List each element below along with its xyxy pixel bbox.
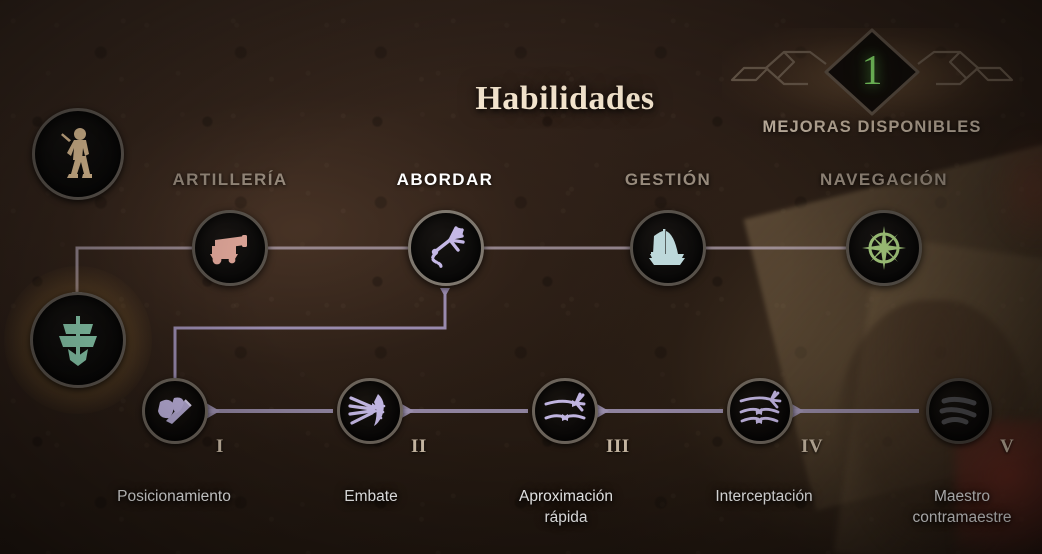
skill-rank-1: I [216, 436, 224, 458]
skill-node-aproximacion-rapida[interactable] [532, 378, 598, 444]
background-red-accent [990, 130, 1042, 250]
skill-node-embate[interactable] [337, 378, 403, 444]
shield-sword-icon [142, 378, 208, 444]
category-label-abordar[interactable]: ABORDAR [397, 170, 494, 190]
upgrades-label: MEJORAS DISPONIBLES [712, 118, 1032, 137]
skill-rank-3: III [606, 436, 630, 458]
skill-rank-5: V [1000, 436, 1014, 458]
category-node-navegacion[interactable] [846, 210, 922, 286]
skill-node-interceptacion[interactable] [727, 378, 793, 444]
background-parchment [744, 140, 1042, 511]
skill-name-maestro-contramaestre: Maestro contramaestre [862, 486, 1042, 529]
upgrades-badge: 1 [712, 22, 1032, 118]
grapple-arrows-icon [532, 378, 598, 444]
wire-abordar-to-skill-row [175, 290, 445, 378]
sailing-ship-icon [630, 210, 706, 286]
category-label-artilleria[interactable]: ARTILLERÍA [172, 170, 287, 190]
joint-abordar-down [440, 288, 450, 297]
skill-name-interceptacion: Interceptación [664, 486, 864, 507]
skill-node-posicionamiento[interactable] [142, 378, 208, 444]
category-label-navegacion[interactable]: NAVEGACIÓN [820, 170, 948, 190]
category-node-gestion[interactable] [630, 210, 706, 286]
available-upgrades-panel: 1 MEJORAS DISPONIBLES [712, 22, 1032, 147]
grappling-hook-icon [408, 210, 484, 286]
category-label-gestion[interactable]: GESTIÓN [625, 170, 711, 190]
upgrades-count: 1 [862, 50, 883, 92]
skill-rank-2: II [411, 436, 427, 458]
ship-mast-icon [30, 292, 126, 388]
sidebar-item-crew[interactable] [32, 108, 124, 200]
cannon-icon [192, 210, 268, 286]
skill-node-maestro-contramaestre[interactable] [926, 378, 992, 444]
skill-name-embate: Embate [276, 486, 466, 507]
arrow-volley-icon [337, 378, 403, 444]
skill-rank-4: IV [801, 436, 823, 458]
triple-arrows-icon [727, 378, 793, 444]
pirate-figure-icon [32, 108, 124, 200]
arrowhead-skill-1 [206, 403, 220, 419]
skill-tree-screen: Habilidades 1 MEJORAS DISPONIBLES [0, 0, 1042, 554]
sidebar-item-ship[interactable] [30, 292, 126, 388]
category-node-abordar[interactable] [408, 210, 484, 286]
skill-name-aproximacion-rapida: Aproximación rápida [466, 486, 666, 529]
compass-rose-icon [846, 210, 922, 286]
dark-claw-icon [926, 378, 992, 444]
skill-name-posicionamiento: Posicionamiento [69, 486, 279, 507]
category-node-artilleria[interactable] [192, 210, 268, 286]
